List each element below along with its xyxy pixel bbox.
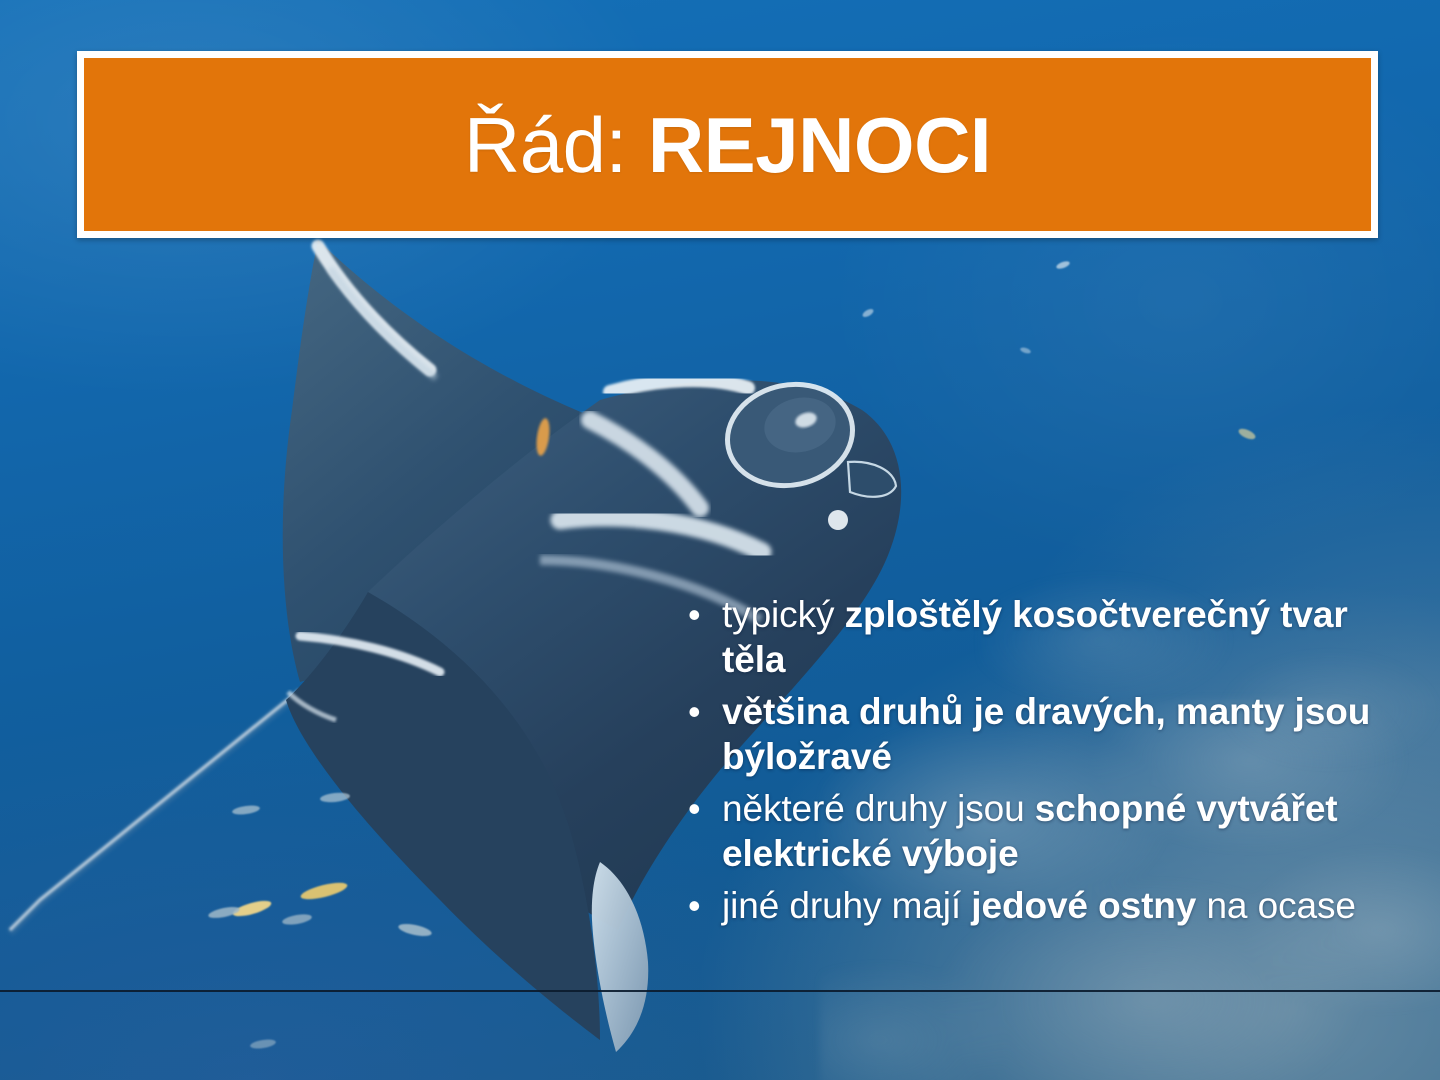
list-item-text: většina druhů je dravých, manty jsou býl…: [722, 689, 1376, 779]
list-item: • jiné druhy mají jedové ostny na ocase: [676, 883, 1376, 928]
text-run: typický: [722, 594, 845, 635]
list-item-text: typický zploštělý kosočtverečný tvar těl…: [722, 592, 1376, 682]
presentation-slide: Řád: REJNOCI • typický zploštělý kosočtv…: [0, 0, 1440, 1080]
bullet-list: • typický zploštělý kosočtverečný tvar t…: [676, 592, 1376, 935]
manta-ventral-tip: [592, 862, 648, 1052]
title-bar: Řád: REJNOCI: [77, 51, 1378, 238]
list-item: • typický zploštělý kosočtverečný tvar t…: [676, 592, 1376, 682]
bullet-marker-icon: •: [676, 883, 722, 928]
title-bar-fill: Řád: REJNOCI: [84, 58, 1371, 231]
bottom-divider: [0, 990, 1440, 992]
list-item: • některé druhy jsou schopné vytvářet el…: [676, 786, 1376, 876]
list-item-text: jiné druhy mají jedové ostny na ocase: [722, 883, 1356, 928]
list-item-text: některé druhy jsou schopné vytvářet elek…: [722, 786, 1376, 876]
text-run: jiné druhy mají: [722, 885, 971, 926]
bullet-marker-icon: •: [676, 592, 722, 637]
title-prefix: Řád:: [464, 101, 627, 189]
title-emphasis: REJNOCI: [648, 101, 991, 189]
text-run: některé druhy jsou: [722, 788, 1035, 829]
bullet-marker-icon: •: [676, 786, 722, 831]
manta-white-spot: [828, 510, 848, 530]
text-run-bold: jedové ostny: [971, 885, 1206, 926]
page-title: Řád: REJNOCI: [464, 106, 991, 184]
bullet-marker-icon: •: [676, 689, 722, 734]
list-item: • většina druhů je dravých, manty jsou b…: [676, 689, 1376, 779]
text-run-bold: většina druhů je dravých, manty jsou býl…: [722, 691, 1370, 777]
text-run: na ocase: [1206, 885, 1355, 926]
